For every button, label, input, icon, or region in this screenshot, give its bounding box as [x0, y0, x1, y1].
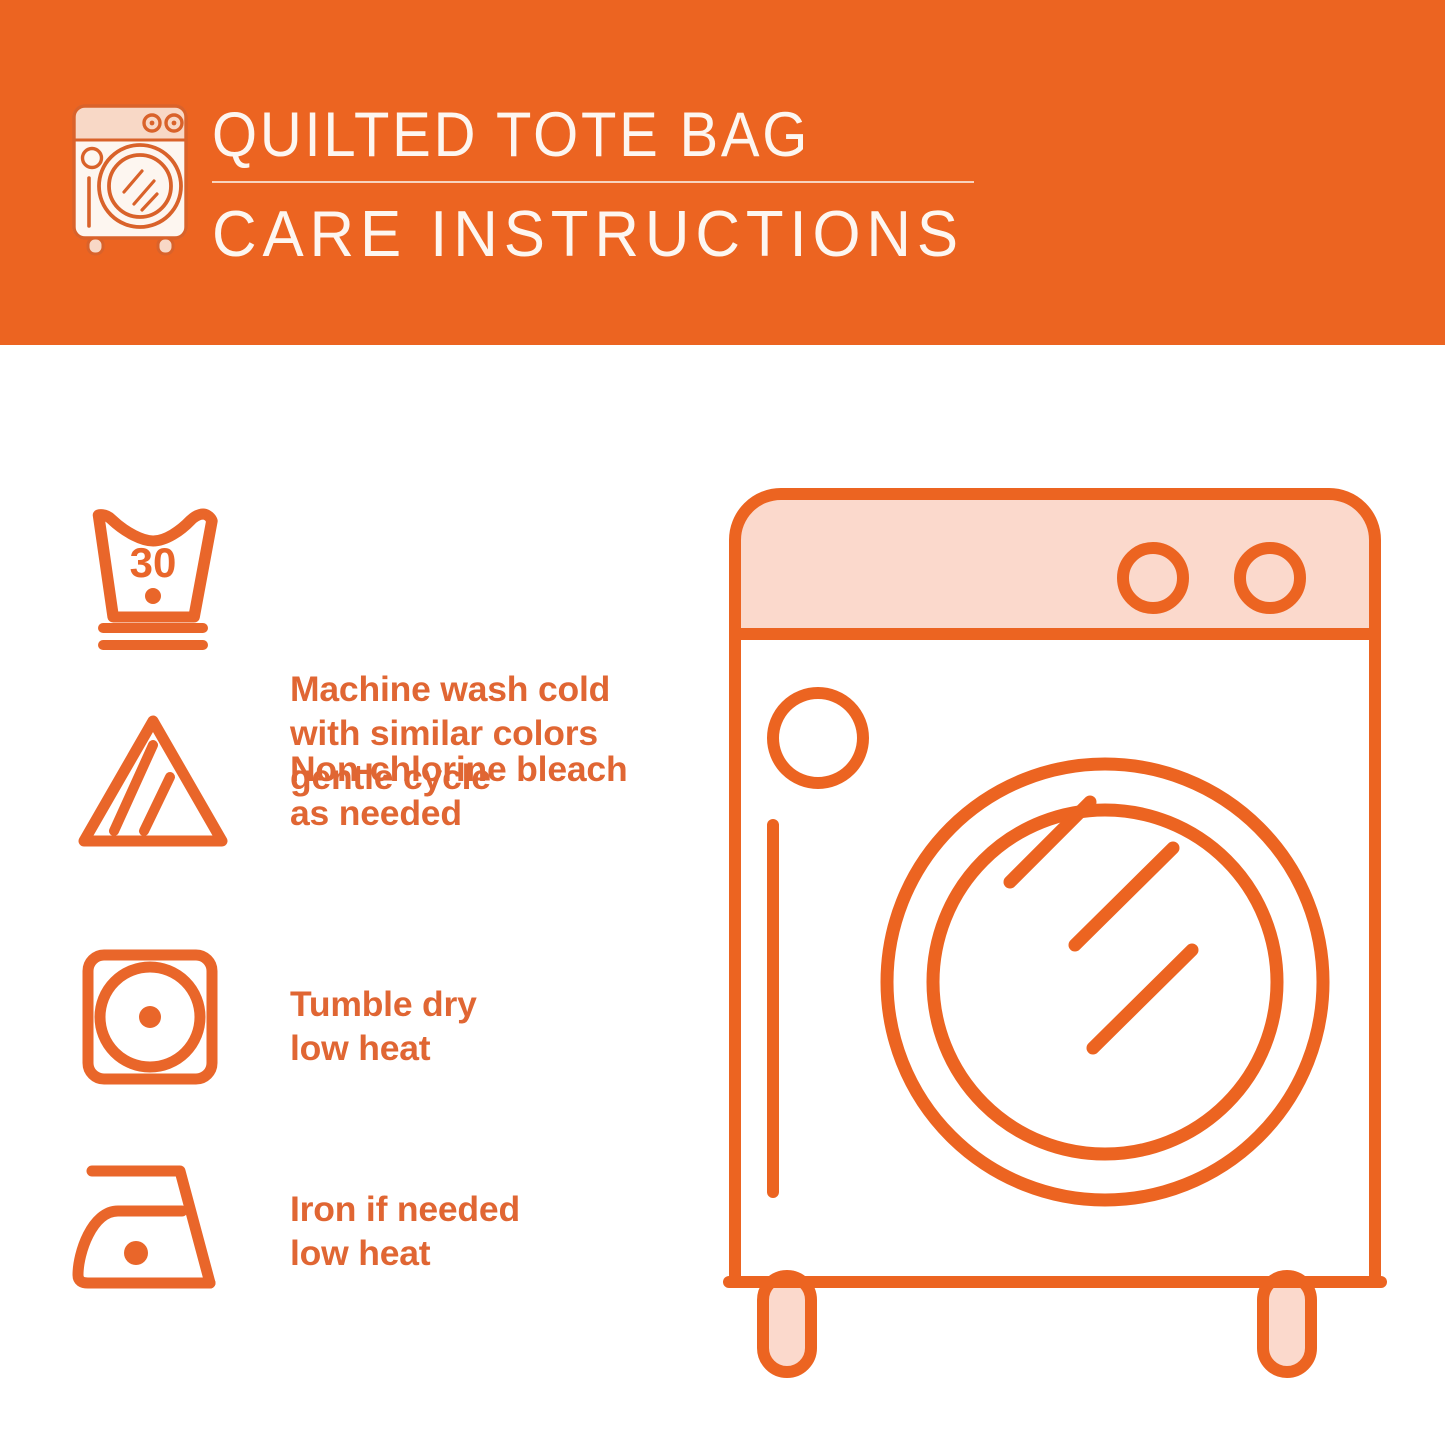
non-chlorine-bleach-triangle-icon: [70, 707, 236, 867]
page-title: QUILTED TOTE BAG: [212, 100, 939, 170]
leg-right: [1263, 1276, 1311, 1372]
title-divider: [212, 181, 974, 183]
care-instructions-infographic: QUILTED TOTE BAG CARE INSTRUCTIONS 30: [0, 0, 1445, 1445]
instruction-label-iron: Iron if needed low heat: [290, 1187, 520, 1275]
header-banner: QUILTED TOTE BAG CARE INSTRUCTIONS: [0, 0, 1445, 345]
tumble-dry-low-heat-icon: [70, 945, 236, 1105]
machine-wash-30-gentle-icon: 30: [70, 503, 236, 653]
leg-left: [763, 1276, 811, 1372]
door-outer-ring: [887, 764, 1323, 1200]
detergent-circle: [773, 693, 863, 783]
instruction-label-dry: Tumble dry low heat: [290, 982, 477, 1070]
control-panel: [735, 494, 1375, 634]
wash-temp-label: 30: [130, 539, 177, 586]
washing-machine-icon: [62, 98, 202, 256]
front-load-washing-machine-illustration: [705, 470, 1405, 1370]
instructions-list: 30 Machine wash cold with similar colors…: [0, 345, 690, 1445]
header-text-block: QUILTED TOTE BAG CARE INSTRUCTIONS: [212, 100, 1002, 270]
care-heading: CARE INSTRUCTIONS: [212, 198, 963, 270]
instruction-label-bleach: Non-chlorine bleach as needed: [290, 747, 627, 835]
door-inner-ring: [933, 810, 1277, 1154]
door-shine-lines: [1010, 802, 1192, 1048]
iron-low-heat-icon: [70, 1153, 236, 1313]
